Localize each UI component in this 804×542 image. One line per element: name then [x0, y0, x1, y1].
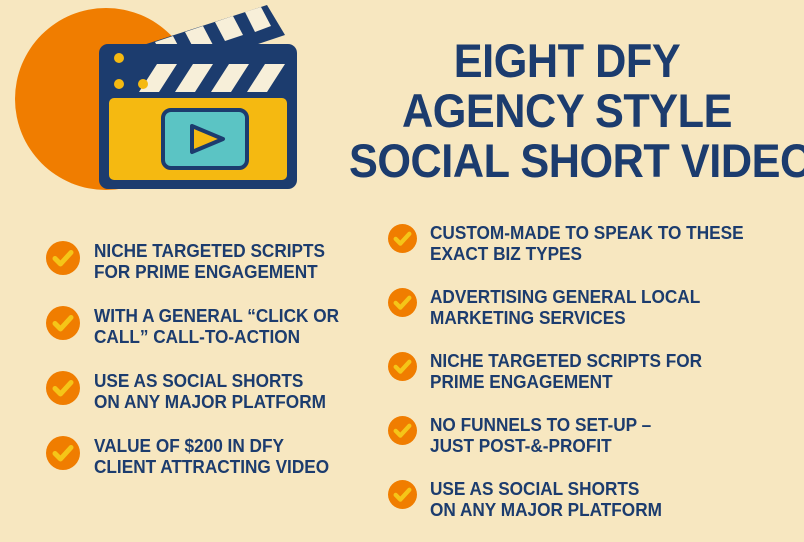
benefit-item: NO FUNNELS TO SET-UP – JUST POST-&-PROFI… [388, 414, 796, 456]
benefit-line: EXACT BIZ TYPES [430, 243, 744, 264]
check-circle-icon [46, 436, 80, 470]
benefit-item: USE AS SOCIAL SHORTS ON ANY MAJOR PLATFO… [46, 370, 366, 412]
benefit-text: CUSTOM-MADE TO SPEAK TO THESE EXACT BIZ … [430, 222, 744, 264]
benefit-line: FOR PRIME ENGAGEMENT [94, 261, 325, 282]
benefit-text: USE AS SOCIAL SHORTS ON ANY MAJOR PLATFO… [430, 478, 662, 520]
benefit-text: ADVERTISING GENERAL LOCAL MARKETING SERV… [430, 286, 700, 328]
check-circle-icon [388, 352, 417, 381]
promo-graphic: EIGHT DFY AGENCY STYLE SOCIAL SHORT VIDE… [0, 0, 804, 526]
benefit-line: CALL” CALL-TO-ACTION [94, 326, 339, 347]
benefit-item: USE AS SOCIAL SHORTS ON ANY MAJOR PLATFO… [388, 478, 796, 520]
benefit-item: CUSTOM-MADE TO SPEAK TO THESE EXACT BIZ … [388, 222, 796, 264]
benefit-line: USE AS SOCIAL SHORTS [430, 478, 662, 499]
benefit-item: WITH A GENERAL “CLICK OR CALL” CALL-TO-A… [46, 305, 366, 347]
benefit-text: NICHE TARGETED SCRIPTS FOR PRIME ENGAGEM… [94, 240, 325, 282]
benefit-line: WITH A GENERAL “CLICK OR [94, 305, 339, 326]
check-circle-icon [388, 224, 417, 253]
check-circle-icon [388, 480, 417, 509]
benefit-line: ON ANY MAJOR PLATFORM [94, 391, 326, 412]
check-circle-icon [46, 306, 80, 340]
benefit-line: USE AS SOCIAL SHORTS [94, 370, 326, 391]
benefit-text: WITH A GENERAL “CLICK OR CALL” CALL-TO-A… [94, 305, 339, 347]
benefit-line: MARKETING SERVICES [430, 307, 700, 328]
benefit-item: VALUE OF $200 IN DFY CLIENT ATTRACTING V… [46, 435, 366, 477]
benefit-line: ON ANY MAJOR PLATFORM [430, 499, 662, 520]
benefit-line: VALUE OF $200 IN DFY [94, 435, 329, 456]
benefits-section: NICHE TARGETED SCRIPTS FOR PRIME ENGAGEM… [0, 0, 804, 526]
benefit-line: CLIENT ATTRACTING VIDEO [94, 456, 329, 477]
benefit-item: NICHE TARGETED SCRIPTS FOR PRIME ENGAGEM… [388, 350, 796, 392]
benefit-item: ADVERTISING GENERAL LOCAL MARKETING SERV… [388, 286, 796, 328]
benefit-text: USE AS SOCIAL SHORTS ON ANY MAJOR PLATFO… [94, 370, 326, 412]
benefit-text: NICHE TARGETED SCRIPTS FOR PRIME ENGAGEM… [430, 350, 702, 392]
benefits-right-column: CUSTOM-MADE TO SPEAK TO THESE EXACT BIZ … [388, 222, 796, 542]
benefit-item: NICHE TARGETED SCRIPTS FOR PRIME ENGAGEM… [46, 240, 366, 282]
benefit-line: JUST POST-&-PROFIT [430, 435, 651, 456]
check-circle-icon [46, 241, 80, 275]
benefit-line: NO FUNNELS TO SET-UP – [430, 414, 651, 435]
benefit-line: PRIME ENGAGEMENT [430, 371, 702, 392]
check-circle-icon [388, 416, 417, 445]
benefit-text: VALUE OF $200 IN DFY CLIENT ATTRACTING V… [94, 435, 329, 477]
benefit-line: NICHE TARGETED SCRIPTS [94, 240, 325, 261]
check-circle-icon [46, 371, 80, 405]
benefit-line: CUSTOM-MADE TO SPEAK TO THESE [430, 222, 744, 243]
check-circle-icon [388, 288, 417, 317]
benefit-text: NO FUNNELS TO SET-UP – JUST POST-&-PROFI… [430, 414, 651, 456]
benefits-left-column: NICHE TARGETED SCRIPTS FOR PRIME ENGAGEM… [46, 240, 366, 500]
benefit-line: ADVERTISING GENERAL LOCAL [430, 286, 700, 307]
benefit-line: NICHE TARGETED SCRIPTS FOR [430, 350, 702, 371]
